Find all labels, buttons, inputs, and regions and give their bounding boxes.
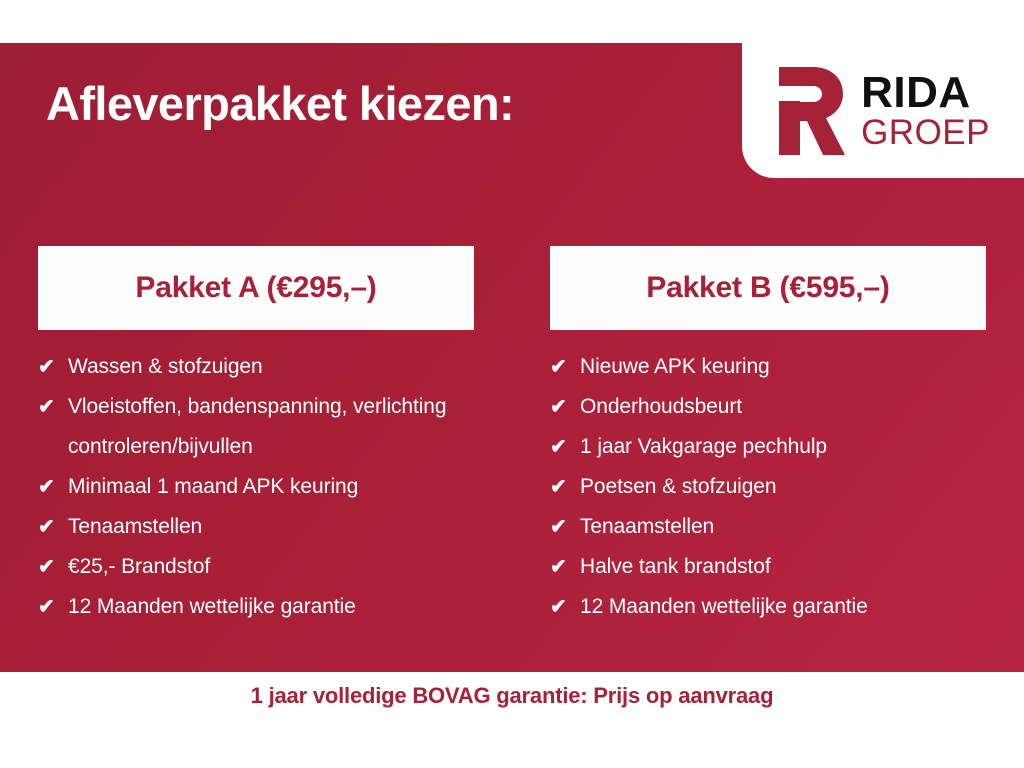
feature-label: 12 Maanden wettelijke garantie <box>68 587 474 627</box>
check-icon: ✔ <box>38 507 68 547</box>
package-a-card[interactable]: Pakket A (€295,–) <box>38 246 474 330</box>
package-b-card[interactable]: Pakket B (€595,–) <box>550 246 986 330</box>
list-item: ✔ €25,- Brandstof <box>38 547 474 587</box>
check-icon: ✔ <box>38 547 68 587</box>
feature-label: 1 jaar Vakgarage pechhulp <box>580 427 986 467</box>
feature-label: Wassen & stofzuigen <box>68 347 474 387</box>
check-icon: ✔ <box>550 507 580 547</box>
logo-plate: RIDA GROEP <box>742 43 1024 178</box>
feature-label: 12 Maanden wettelijke garantie <box>580 587 986 627</box>
page-title: Afleverpakket kiezen: <box>46 78 514 130</box>
list-item: ✔ Wassen & stofzuigen <box>38 347 474 387</box>
logo-brand-text: RIDA <box>861 71 971 114</box>
check-icon: ✔ <box>550 587 580 627</box>
package-column-a: Pakket A (€295,–) ✔ Wassen & stofzuigen … <box>38 246 474 627</box>
package-b-feature-list: ✔ Nieuwe APK keuring ✔ Onderhoudsbeurt ✔… <box>550 347 986 627</box>
feature-label: €25,- Brandstof <box>68 547 474 587</box>
list-item: ✔ 1 jaar Vakgarage pechhulp <box>550 427 986 467</box>
feature-label: Poetsen & stofzuigen <box>580 467 986 507</box>
logo-subbrand-text: GROEP <box>861 115 990 151</box>
list-item: ✔ Tenaamstellen <box>550 507 986 547</box>
check-icon: ✔ <box>38 347 68 387</box>
check-icon: ✔ <box>550 427 580 467</box>
feature-label: Minimaal 1 maand APK keuring <box>68 467 474 507</box>
list-item: ✔ 12 Maanden wettelijke garantie <box>550 587 986 627</box>
slide-root: Afleverpakket kiezen: RIDA GROEP Pakket … <box>0 0 1024 768</box>
list-item: ✔ 12 Maanden wettelijke garantie <box>38 587 474 627</box>
feature-label: Vloeistoffen, bandenspanning, verlichtin… <box>68 387 474 467</box>
list-item: ✔ Poetsen & stofzuigen <box>550 467 986 507</box>
package-a-feature-list: ✔ Wassen & stofzuigen ✔ Vloeistoffen, ba… <box>38 347 474 627</box>
check-icon: ✔ <box>38 467 68 507</box>
footer-band: 1 jaar volledige BOVAG garantie: Prijs o… <box>0 672 1024 768</box>
feature-label: Nieuwe APK keuring <box>580 347 986 387</box>
footer-note: 1 jaar volledige BOVAG garantie: Prijs o… <box>0 683 1024 709</box>
packages-container: Pakket A (€295,–) ✔ Wassen & stofzuigen … <box>38 246 986 627</box>
check-icon: ✔ <box>38 387 68 427</box>
feature-label: Onderhoudsbeurt <box>580 387 986 427</box>
feature-label: Tenaamstellen <box>580 507 986 547</box>
feature-label: Tenaamstellen <box>68 507 474 547</box>
package-b-title: Pakket B (€595,–) <box>646 271 889 305</box>
list-item: ✔ Tenaamstellen <box>38 507 474 547</box>
list-item: ✔ Minimaal 1 maand APK keuring <box>38 467 474 507</box>
check-icon: ✔ <box>550 387 580 427</box>
list-item: ✔ Nieuwe APK keuring <box>550 347 986 387</box>
list-item: ✔ Vloeistoffen, bandenspanning, verlicht… <box>38 387 474 467</box>
package-column-b: Pakket B (€595,–) ✔ Nieuwe APK keuring ✔… <box>550 246 986 627</box>
list-item: ✔ Onderhoudsbeurt <box>550 387 986 427</box>
logo-wordmark: RIDA GROEP <box>861 71 990 151</box>
check-icon: ✔ <box>550 347 580 387</box>
package-a-title: Pakket A (€295,–) <box>135 271 376 305</box>
check-icon: ✔ <box>38 587 68 627</box>
check-icon: ✔ <box>550 547 580 587</box>
feature-label: Halve tank brandstof <box>580 547 986 587</box>
list-item: ✔ Halve tank brandstof <box>550 547 986 587</box>
check-icon: ✔ <box>550 467 580 507</box>
rida-r-mark-icon <box>773 63 847 159</box>
